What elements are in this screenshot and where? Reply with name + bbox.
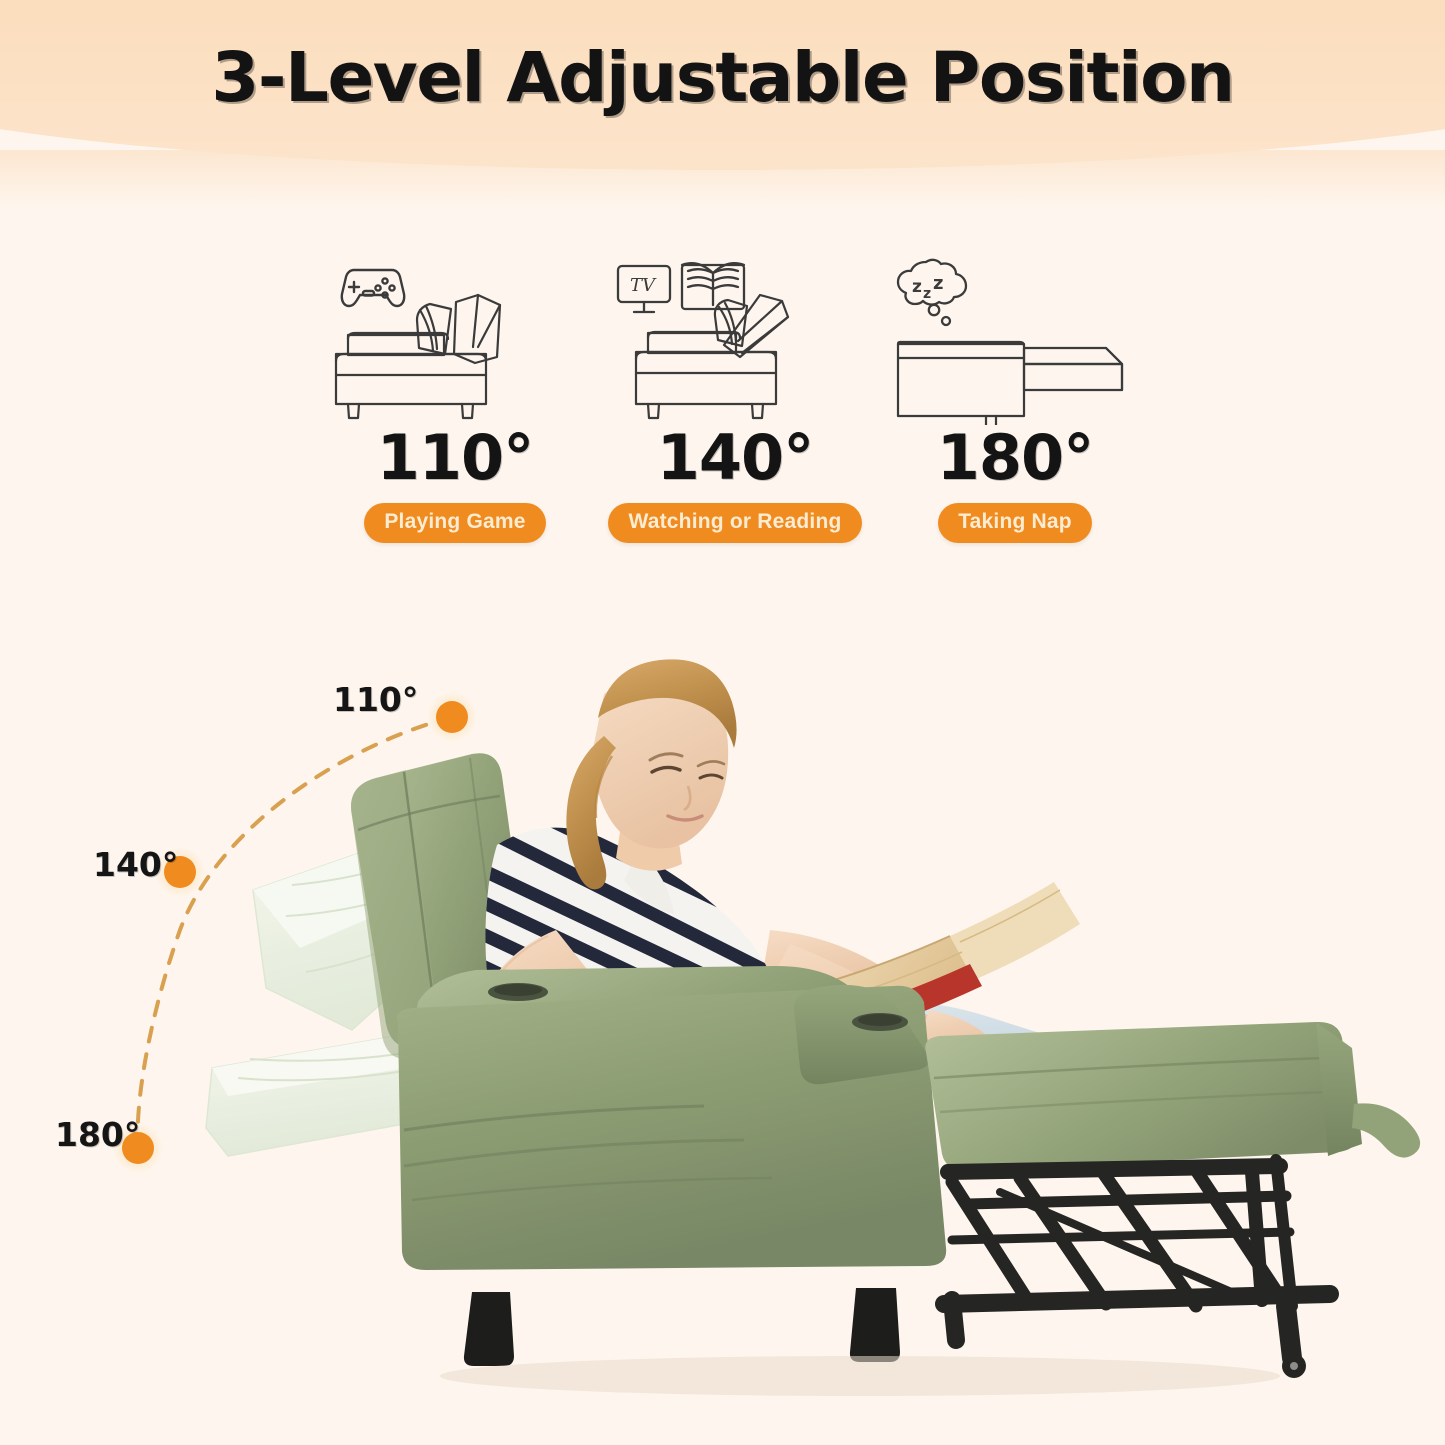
feature-item-140: TV — [610, 240, 860, 543]
gamepad-icon — [342, 270, 404, 306]
extended-footrest — [925, 1022, 1420, 1170]
feature-art-110 — [330, 240, 580, 425]
feature-angle-180: 180° — [937, 427, 1093, 489]
feature-badge-180: Taking Nap — [938, 503, 1092, 543]
feature-angle-110: 110° — [377, 427, 533, 489]
chair-foot-right — [850, 1288, 900, 1362]
feature-item-180: z z z — [890, 240, 1140, 543]
arc-label-140: 140° — [93, 845, 178, 884]
feature-item-110: 110° Playing Game — [330, 240, 580, 543]
arc-label-110: 110° — [333, 680, 418, 719]
arc-dot-110 — [436, 701, 468, 733]
feature-art-180: z z z — [890, 240, 1140, 425]
chair-reclined-icon — [636, 295, 788, 418]
arc-label-180: 180° — [55, 1115, 140, 1154]
infographic-root: 3-Level Adjustable Position — [0, 0, 1445, 1445]
svg-text:z: z — [912, 277, 922, 297]
tv-icon: TV — [618, 266, 670, 312]
recliner-front — [397, 966, 947, 1366]
chair-foot-left — [464, 1292, 514, 1366]
feature-row: 110° Playing Game TV — [330, 240, 1140, 560]
svg-text:TV: TV — [630, 275, 657, 296]
svg-text:z: z — [933, 273, 943, 294]
svg-text:z: z — [923, 286, 931, 302]
feature-badge-140: Watching or Reading — [608, 503, 861, 543]
peach-fade — [0, 150, 1445, 210]
feature-angle-140: 140° — [657, 427, 813, 489]
page-title: 3-Level Adjustable Position — [0, 38, 1445, 118]
release-handle — [1352, 1103, 1420, 1157]
hero-photo — [0, 600, 1445, 1445]
recliner-mechanism — [944, 1160, 1330, 1378]
chair-flat-icon — [898, 342, 1122, 425]
chair-upright-icon — [336, 295, 500, 418]
feature-badge-110: Playing Game — [364, 503, 545, 543]
feature-art-140: TV — [610, 240, 860, 425]
sleep-zzz-icon: z z z — [898, 260, 966, 325]
